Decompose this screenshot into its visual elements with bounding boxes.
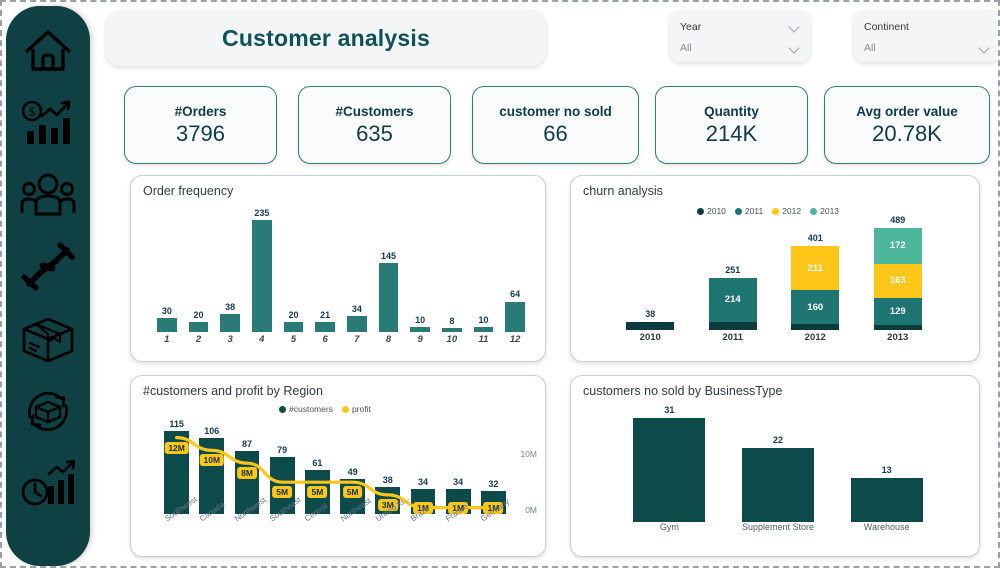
- stack-total-label: 489: [874, 215, 922, 225]
- chart-title: Order frequency: [143, 184, 233, 198]
- kpi-label: Quantity: [704, 104, 759, 119]
- bar-value-label: 64: [505, 289, 525, 299]
- plot-area: 115106877961493834343212M10M8M5M5M5M3M1M…: [159, 431, 511, 514]
- bar-segment[interactable]: 172: [874, 228, 922, 264]
- bar-rect[interactable]: [633, 418, 705, 522]
- bar-value-label: 8: [442, 316, 462, 326]
- stacked-bar[interactable]: 214: [709, 278, 757, 330]
- segment-value-label: 214: [725, 294, 741, 305]
- bar[interactable]: [284, 322, 304, 332]
- stack-total-label: 401: [791, 233, 839, 243]
- bar[interactable]: [442, 328, 462, 332]
- profit-value-label: 10M: [200, 454, 225, 466]
- sidebar-item-customers[interactable]: [17, 164, 79, 226]
- bar[interactable]: [157, 318, 177, 332]
- chevron-down-icon[interactable]: [979, 44, 990, 51]
- chart-legend: 2010201120122013: [697, 206, 839, 216]
- chart-customers-no-sold-by-businesstype[interactable]: customers no sold by BusinessType 312213…: [570, 375, 980, 557]
- sidebar-item-home[interactable]: [17, 20, 79, 82]
- bar-value-label: 10: [410, 315, 430, 325]
- segment-value-label: 160: [807, 302, 823, 313]
- bar-rect[interactable]: [505, 302, 525, 333]
- bar-rect[interactable]: [474, 327, 494, 332]
- x-axis: 2010201120122013: [609, 332, 939, 348]
- stacked-bar[interactable]: 211160: [791, 246, 839, 330]
- x-axis: 123456789101112: [151, 334, 531, 350]
- bar-segment[interactable]: [626, 322, 674, 330]
- bar-rect[interactable]: [742, 448, 814, 522]
- sidebar-item-sales[interactable]: $: [17, 92, 79, 154]
- bar-segment[interactable]: 211: [791, 246, 839, 290]
- x-axis-tick: 5: [284, 334, 304, 345]
- legend-swatch: [810, 208, 817, 215]
- slicer-year-label: Year: [680, 21, 701, 33]
- x-axis: GymSupplement StoreWarehouse: [615, 522, 941, 538]
- x-axis-tick: 2012: [791, 332, 839, 343]
- chart-legend: #customersprofit: [279, 404, 371, 414]
- kpi-value: 3796: [176, 121, 225, 147]
- x-axis-tick: 12: [505, 334, 525, 345]
- legend-item[interactable]: 2011: [735, 206, 763, 216]
- bar-value-label: 34: [347, 304, 367, 314]
- profit-value-label: 5M: [307, 486, 327, 498]
- kpi-label: #Orders: [175, 104, 227, 119]
- kpi-value: 635: [356, 121, 393, 147]
- plot-area: 3020382352021341451081064: [151, 220, 531, 332]
- bar[interactable]: [220, 314, 240, 332]
- chart-churn-analysis[interactable]: churn analysis 2010201120122013 38214251…: [570, 175, 980, 362]
- chart-title: #customers and profit by Region: [143, 384, 323, 398]
- slicer-continent-value: All: [864, 42, 876, 54]
- bar-rect[interactable]: [284, 322, 304, 332]
- bar[interactable]: [252, 220, 272, 332]
- bar-segment[interactable]: 160: [791, 290, 839, 323]
- kpi-label: #Customers: [335, 104, 413, 119]
- x-axis-tick: 4: [252, 334, 272, 345]
- sidebar: $: [6, 6, 90, 566]
- legend-item[interactable]: 2010: [697, 206, 726, 216]
- x-axis-tick: Supplement Store: [728, 522, 828, 532]
- x-axis-tick: 10: [442, 334, 462, 345]
- legend-label: #customers: [289, 404, 333, 414]
- chevron-down-icon[interactable]: [789, 44, 800, 51]
- bar[interactable]: [633, 418, 705, 522]
- y2-tick-top: 10M: [520, 449, 537, 459]
- bar[interactable]: [505, 302, 525, 333]
- page-title-text: Customer analysis: [222, 25, 430, 52]
- bar-rect[interactable]: [379, 263, 399, 332]
- svg-text:$: $: [29, 104, 36, 119]
- segment-value-label: 211: [808, 263, 823, 274]
- bar-rect[interactable]: [189, 322, 209, 332]
- x-axis-tick: 2: [189, 334, 209, 345]
- bar-segment[interactable]: 129: [874, 298, 922, 325]
- x-axis-tick: 2013: [874, 332, 922, 343]
- kpi-card-customers[interactable]: #Customers 635: [298, 86, 451, 164]
- stack-total-label: 38: [626, 309, 674, 319]
- segment-value-label: 163: [890, 275, 906, 286]
- dashboard-canvas: $: [0, 0, 1000, 568]
- bar-segment[interactable]: [709, 322, 757, 330]
- kpi-card-customer-no-sold[interactable]: customer no sold 66: [472, 86, 639, 164]
- sidebar-item-time-analysis[interactable]: [17, 452, 79, 514]
- sidebar-item-products[interactable]: [17, 308, 79, 370]
- legend-item[interactable]: profit: [342, 404, 371, 414]
- bar[interactable]: [189, 322, 209, 332]
- profit-value-label: 5M: [272, 486, 292, 498]
- bar-value-label: 38: [220, 302, 240, 312]
- bar[interactable]: [379, 263, 399, 332]
- segment-value-label: 129: [890, 306, 906, 317]
- bar-segment[interactable]: 214: [709, 278, 757, 323]
- bar-rect[interactable]: [851, 478, 923, 522]
- x-axis-tick: 6: [315, 334, 335, 345]
- bar-rect[interactable]: [410, 327, 430, 332]
- bar[interactable]: [410, 327, 430, 332]
- x-axis-tick: 7: [347, 334, 367, 345]
- slicer-continent-label: Continent: [864, 21, 909, 33]
- bar[interactable]: [474, 327, 494, 332]
- x-axis-tick: 2010: [626, 332, 674, 343]
- x-axis-tick: 9: [410, 334, 430, 345]
- legend-label: profit: [352, 404, 371, 414]
- bar-value-label: 22: [742, 435, 814, 445]
- plot-area: 38214251211160401172163129489: [609, 228, 939, 330]
- chart-title: churn analysis: [583, 184, 663, 198]
- legend-swatch: [735, 208, 742, 215]
- bar-value-label: 13: [851, 465, 923, 475]
- x-axis-tick: 11: [474, 334, 494, 345]
- bar-segment[interactable]: 163: [874, 264, 922, 298]
- stacked-bar[interactable]: 172163129: [874, 228, 922, 330]
- bar-value-label: 30: [157, 306, 177, 316]
- profit-value-label: 12M: [164, 442, 189, 454]
- slicer-year-value: All: [680, 42, 692, 54]
- stacked-bar[interactable]: [626, 322, 674, 330]
- sales-chart-icon: $: [21, 98, 75, 148]
- kpi-label: Avg order value: [856, 104, 958, 119]
- chevron-down-icon[interactable]: [789, 23, 800, 30]
- home-icon: [22, 27, 74, 75]
- bar[interactable]: [315, 322, 335, 332]
- profit-value-label: 8M: [237, 467, 257, 479]
- page-title: Customer analysis: [106, 10, 546, 66]
- legend-item[interactable]: #customers: [279, 404, 333, 414]
- box-icon: [20, 315, 76, 363]
- y2-tick-bottom: 0M: [525, 505, 537, 515]
- slicer-continent[interactable]: Continent All: [854, 10, 1000, 62]
- bar-rect[interactable]: [315, 322, 335, 332]
- legend-label: 2010: [707, 206, 726, 216]
- bar-value-label: 21: [315, 310, 335, 320]
- x-axis-tick: Gym: [619, 522, 719, 532]
- bar[interactable]: [851, 478, 923, 522]
- bar[interactable]: [347, 316, 367, 332]
- profit-value-label: 5M: [343, 486, 363, 498]
- bar-rect[interactable]: [157, 318, 177, 332]
- x-axis-tick: 1: [157, 334, 177, 345]
- bar-value-label: 145: [379, 251, 399, 261]
- legend-label: 2012: [782, 206, 801, 216]
- bar-value-label: 31: [633, 405, 705, 415]
- chart-title: customers no sold by BusinessType: [583, 384, 782, 398]
- legend-swatch: [342, 406, 349, 413]
- bar-rect[interactable]: [347, 316, 367, 332]
- kpi-card-quantity[interactable]: Quantity 214K: [655, 86, 808, 164]
- x-axis: SouthwestCanadaNorthwestSoutheastCentral…: [159, 514, 511, 556]
- chart-order-frequency[interactable]: Order frequency 302038235202134145108106…: [130, 175, 546, 362]
- bar-value-label: 115: [164, 419, 189, 429]
- returns-icon: [20, 385, 76, 437]
- bar-segment[interactable]: [791, 324, 839, 330]
- bar-value-label: 20: [189, 310, 209, 320]
- plot-area: 312213: [615, 418, 941, 522]
- legend-swatch: [772, 208, 779, 215]
- legend-item[interactable]: 2013: [810, 206, 839, 216]
- sidebar-item-fitness[interactable]: [17, 236, 79, 298]
- kpi-value: 66: [543, 121, 567, 147]
- x-axis-tick: 2011: [709, 332, 757, 343]
- legend-label: 2013: [820, 206, 839, 216]
- slicer-year[interactable]: Year All: [670, 10, 810, 62]
- x-axis-tick: Warehouse: [837, 522, 937, 532]
- legend-swatch: [697, 208, 704, 215]
- bar-value-label: 20: [284, 310, 304, 320]
- x-axis-tick: 8: [379, 334, 399, 345]
- bar-rect[interactable]: [442, 328, 462, 332]
- legend-label: 2011: [745, 206, 763, 216]
- kpi-card-orders[interactable]: #Orders 3796: [124, 86, 277, 164]
- bar-segment[interactable]: [874, 325, 922, 330]
- bar[interactable]: [742, 448, 814, 522]
- chart-customers-profit-by-region[interactable]: #customers and profit by Region #custome…: [130, 375, 546, 557]
- sidebar-item-returns[interactable]: [17, 380, 79, 442]
- kpi-card-avg-order-value[interactable]: Avg order value 20.78K: [824, 86, 990, 164]
- segment-value-label: 172: [890, 240, 906, 251]
- dumbbell-icon: [21, 242, 75, 292]
- bar-rect[interactable]: [220, 314, 240, 332]
- kpi-value: 20.78K: [872, 121, 942, 147]
- stack-total-label: 251: [709, 265, 757, 275]
- legend-item[interactable]: 2012: [772, 206, 801, 216]
- bar-value-label: 235: [252, 208, 272, 218]
- kpi-value: 214K: [706, 121, 757, 147]
- customers-icon: [20, 173, 76, 217]
- x-axis-tick: 3: [220, 334, 240, 345]
- bar-rect[interactable]: [252, 220, 272, 332]
- kpi-label: customer no sold: [499, 104, 612, 119]
- time-analysis-icon: [20, 459, 76, 507]
- legend-swatch: [279, 406, 286, 413]
- bar-value-label: 10: [474, 315, 494, 325]
